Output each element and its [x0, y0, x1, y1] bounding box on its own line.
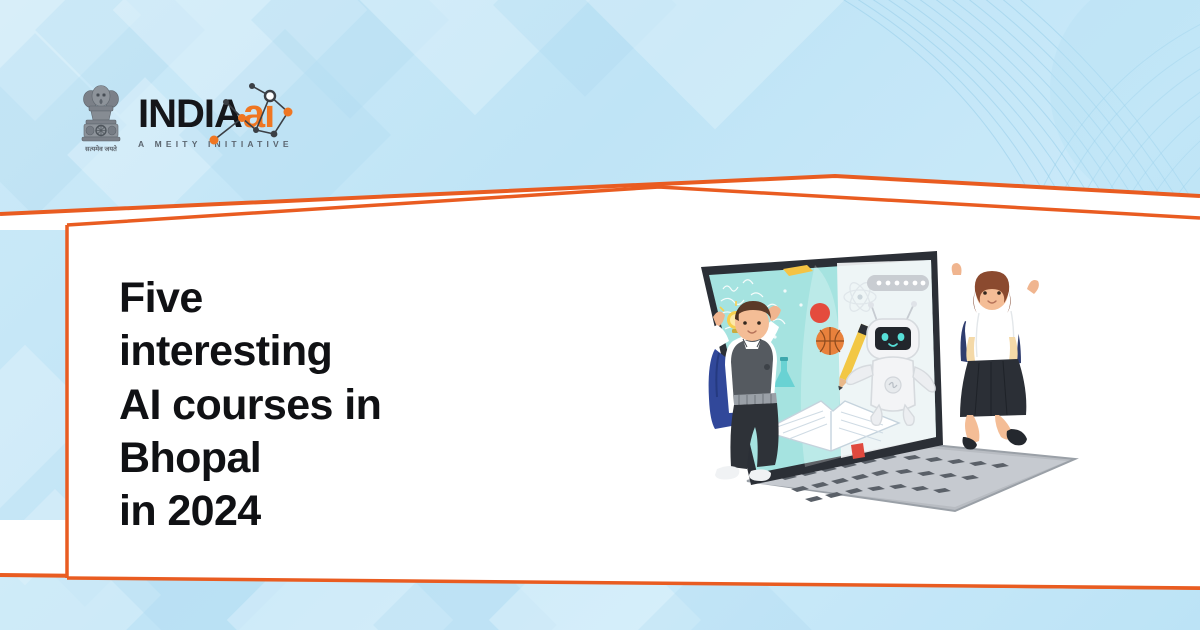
indiaai-wordmark: INDIA ai [138, 94, 293, 149]
logo-tagline: A MEITY INITIATIVE [138, 139, 293, 149]
ashoka-emblem-icon: सत्यमेव जयते [78, 84, 124, 158]
wordmark-india: INDIA [138, 94, 242, 134]
banner-canvas: सत्यमेव जयते INDIA ai [0, 0, 1200, 630]
boy-student-illustration [709, 301, 781, 481]
page-title: Five interesting AI courses in Bhopal in… [119, 272, 381, 539]
indiaai-logo[interactable]: सत्यमेव जयते INDIA ai [78, 84, 293, 158]
eraser-icon [851, 443, 865, 459]
red-ball-icon [810, 303, 830, 323]
chat-bubble-icon [867, 275, 929, 291]
emblem-motto: सत्यमेव जयते [84, 145, 117, 153]
students-laptop-ai-robot-illustration [655, 245, 1085, 525]
basketball-icon [816, 327, 844, 355]
wordmark-ai: ai [243, 94, 274, 134]
girl-student-illustration [949, 263, 1039, 450]
